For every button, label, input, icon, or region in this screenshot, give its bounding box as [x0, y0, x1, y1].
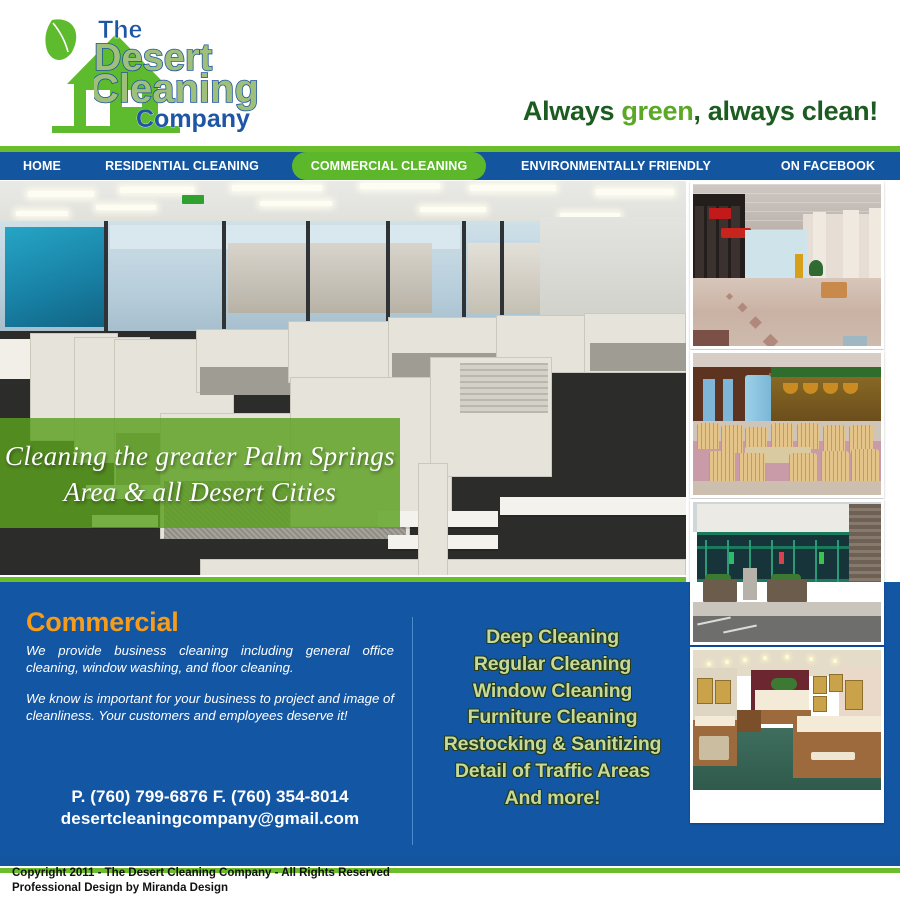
commercial-paragraph-2: We know is important for your business t…	[26, 690, 394, 724]
contact-email[interactable]: desertcleaningcompany@gmail.com	[26, 808, 394, 830]
service-item: Deep Cleaning	[425, 624, 680, 651]
column-divider	[412, 617, 413, 845]
copyright-line: Copyright 2011 - The Desert Cleaning Com…	[12, 866, 892, 881]
nav-item-on-facebook[interactable]: ON FACEBOOK	[770, 152, 886, 180]
footer-blue-rule	[0, 856, 900, 866]
service-item: Regular Cleaning	[425, 651, 680, 678]
site-logo[interactable]: The Desert Cleaning Company	[22, 8, 292, 138]
food-court-photo	[693, 353, 881, 495]
nav-item-residential-cleaning[interactable]: RESIDENTIAL CLEANING	[96, 152, 268, 180]
hero-banner: Cleaning the greater Palm Springs Area &…	[0, 418, 400, 528]
tagline-pre: Always	[523, 96, 621, 126]
jewelry-store-interior-photo	[693, 650, 881, 820]
photo-frame[interactable]	[690, 647, 884, 823]
nav-item-home[interactable]: HOME	[14, 152, 70, 180]
commercial-text-column: Commercial We provide business cleaning …	[26, 607, 394, 738]
main-navigation: HOME RESIDENTIAL CLEANING COMMERCIAL CLE…	[0, 152, 900, 180]
logo-text-company: Company	[136, 105, 250, 133]
service-item: Furniture Cleaning	[425, 704, 680, 731]
nav-item-commercial-cleaning[interactable]: COMMERCIAL CLEANING	[292, 152, 486, 180]
webpage-root: The Desert Cleaning Company Always green…	[0, 0, 900, 900]
photo-frame[interactable]	[690, 499, 884, 645]
hero-image: Cleaning the greater Palm Springs Area &…	[0, 181, 686, 575]
tagline-post: , always clean!	[693, 96, 878, 126]
site-header: The Desert Cleaning Company Always green…	[0, 0, 900, 146]
photo-sidebar	[690, 181, 886, 856]
photo-frame[interactable]	[690, 350, 884, 498]
service-item: Restocking & Sanitizing	[425, 731, 680, 758]
services-list: Deep Cleaning Regular Cleaning Window Cl…	[425, 624, 680, 812]
logo-wordmark: The Desert Cleaning Company	[94, 14, 289, 134]
service-item: Window Cleaning	[425, 678, 680, 705]
contact-phone-fax[interactable]: P. (760) 799-6876 F. (760) 354-8014	[26, 786, 394, 808]
nav-item-environmentally-friendly[interactable]: ENVIRONMENTALLY FRIENDLY	[510, 152, 722, 180]
storefront-exterior-photo	[693, 502, 881, 642]
commercial-paragraph-1: We provide business cleaning including g…	[26, 642, 394, 676]
hero-banner-line1: Cleaning the greater Palm Springs	[0, 438, 400, 474]
site-tagline: Always green, always clean!	[523, 96, 878, 127]
mall-corridor-photo	[693, 184, 881, 346]
contact-block: P. (760) 799-6876 F. (760) 354-8014 dese…	[26, 786, 394, 830]
service-item: And more!	[425, 785, 680, 812]
service-item: Detail of Traffic Areas	[425, 758, 680, 785]
site-footer: Copyright 2011 - The Desert Cleaning Com…	[12, 866, 892, 896]
designer-credit-line: Professional Design by Miranda Design	[12, 881, 892, 896]
tagline-accent: green	[621, 96, 693, 126]
hero-banner-line2: Area & all Desert Cities	[0, 474, 400, 510]
photo-frame[interactable]	[690, 181, 884, 349]
page-title: Commercial	[26, 607, 394, 638]
